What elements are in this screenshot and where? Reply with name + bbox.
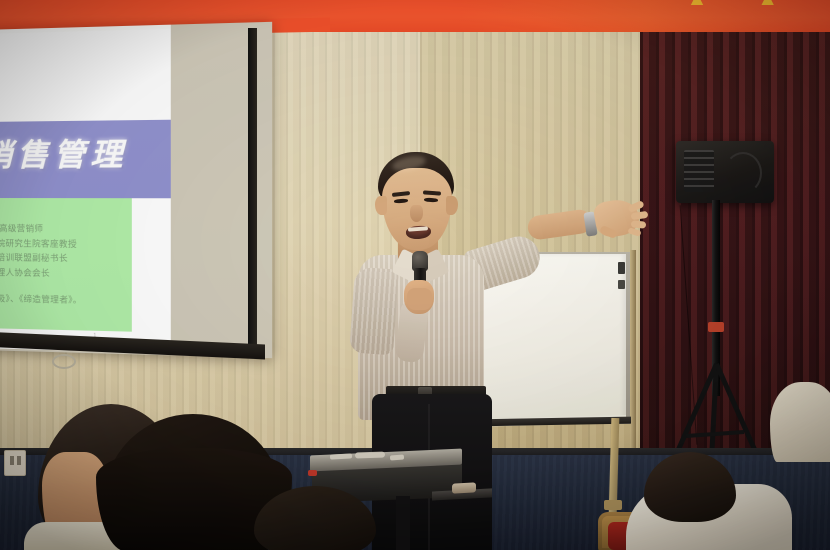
slide-title: 销售管理 bbox=[0, 128, 171, 175]
slide-line: 山东企业管理培训联盟副秘书长 bbox=[0, 251, 132, 268]
chair-foot bbox=[604, 500, 622, 510]
presenter-left-sleeve bbox=[349, 267, 399, 356]
table-item bbox=[390, 455, 404, 461]
screen-right-bezel bbox=[248, 28, 257, 354]
slide-line: 中国社会科学院研究生院客座教授 bbox=[0, 236, 132, 253]
table-shelf-object bbox=[452, 482, 476, 493]
slide-line: 临沂市职业经理人协会会长 bbox=[0, 266, 132, 284]
seminar-photograph: ▲ ▲ 销售管理 主讲人：孟森 MBA国家认证高级营销师 中国社会科学院研究生院… bbox=[0, 0, 830, 550]
banner-glyph-text: ▲ ▲ bbox=[687, 0, 800, 11]
slide-top-white-area bbox=[0, 29, 171, 123]
slide-canvas: 销售管理 主讲人：孟森 MBA国家认证高级营销师 中国社会科学院研究生院客座教授… bbox=[0, 29, 171, 349]
presenter-nose bbox=[410, 205, 423, 222]
wall-power-outlet bbox=[4, 450, 26, 476]
presenter-eye bbox=[424, 198, 438, 203]
table-item bbox=[355, 451, 385, 458]
slide-book-line: 《与公司同呼吸》、《缔造管理者》。 bbox=[0, 291, 132, 310]
whiteboard-clip bbox=[618, 280, 625, 289]
table-red-marker bbox=[308, 470, 317, 476]
slide-line: MBA国家认证高级营销师 bbox=[0, 222, 132, 238]
projection-screen: 销售管理 主讲人：孟森 MBA国家认证高级营销师 中国社会科学院研究生院客座教授… bbox=[0, 22, 272, 358]
pa-speaker-cone-icon bbox=[724, 152, 762, 194]
presenter-ear bbox=[375, 196, 387, 215]
projected-slide: 销售管理 主讲人：孟森 MBA国家认证高级营销师 中国社会科学院研究生院客座教授… bbox=[0, 25, 171, 354]
pa-speaker-grill bbox=[684, 150, 714, 192]
tripod-collar[interactable] bbox=[708, 322, 724, 332]
screen-pull-ring[interactable] bbox=[52, 354, 76, 369]
presenter-table-leg bbox=[396, 496, 410, 550]
presenter-mic-grip bbox=[407, 288, 432, 310]
presenter-finger bbox=[631, 220, 647, 228]
audience-shoulder bbox=[770, 382, 830, 462]
whiteboard-clip bbox=[618, 262, 625, 274]
slide-body-box: 主讲人：孟森 MBA国家认证高级营销师 中国社会科学院研究生院客座教授 山东企业… bbox=[0, 198, 132, 332]
slide-line: 主讲人：孟森 bbox=[0, 207, 132, 223]
slide-bullet-list: 主讲人：孟森 MBA国家认证高级营销师 中国社会科学院研究生院客座教授 山东企业… bbox=[0, 198, 132, 310]
